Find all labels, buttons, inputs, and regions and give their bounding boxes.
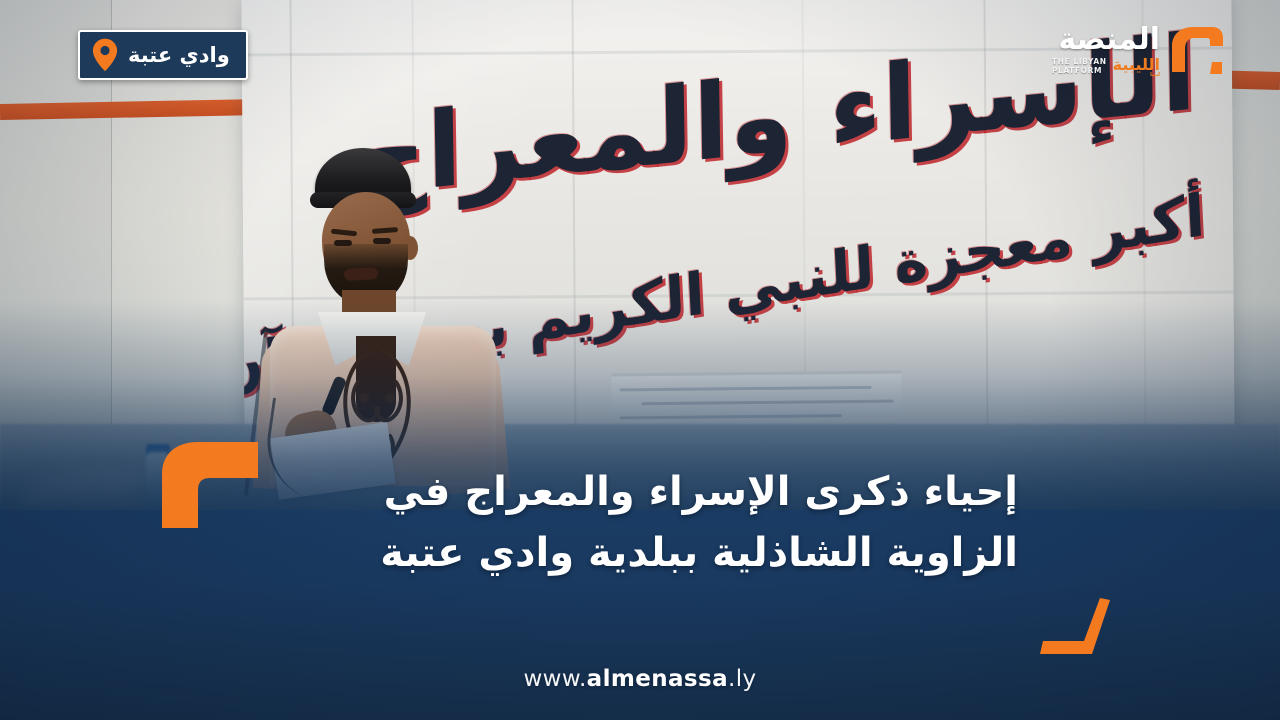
brand-logo-arabic: المنصة bbox=[1058, 26, 1160, 55]
brand-logo-wordmark: المنصة THE LIBYANPLATFORM الليبيةليبيا bbox=[1052, 22, 1160, 78]
almenassa-hook-mark-icon bbox=[1166, 22, 1228, 84]
orange-bracket-shape bbox=[158, 440, 262, 528]
brand-logo[interactable]: المنصة THE LIBYANPLATFORM الليبيةليبيا bbox=[1052, 22, 1228, 84]
website-url[interactable]: www.almenassa.ly bbox=[0, 666, 1280, 692]
map-pin-icon bbox=[92, 38, 118, 72]
url-tld: .ly bbox=[728, 666, 757, 692]
headline-text: إحياء ذكرى الإسراء والمعراج في الزاوية ا… bbox=[258, 462, 1018, 584]
orange-angle-mark bbox=[1040, 598, 1112, 656]
news-card: الإسراء والمعراج أكبر معجزة للنبي الكريم… bbox=[0, 0, 1280, 720]
url-name: almenassa bbox=[587, 666, 728, 692]
location-badge-label: وادي عتبة bbox=[128, 45, 230, 66]
url-prefix: www. bbox=[523, 666, 586, 692]
location-badge[interactable]: وادي عتبة bbox=[78, 30, 248, 80]
brand-logo-english: THE LIBYANPLATFORM bbox=[1052, 58, 1107, 75]
brand-logo-arabic-sub: الليبيةليبيا bbox=[1113, 57, 1160, 78]
